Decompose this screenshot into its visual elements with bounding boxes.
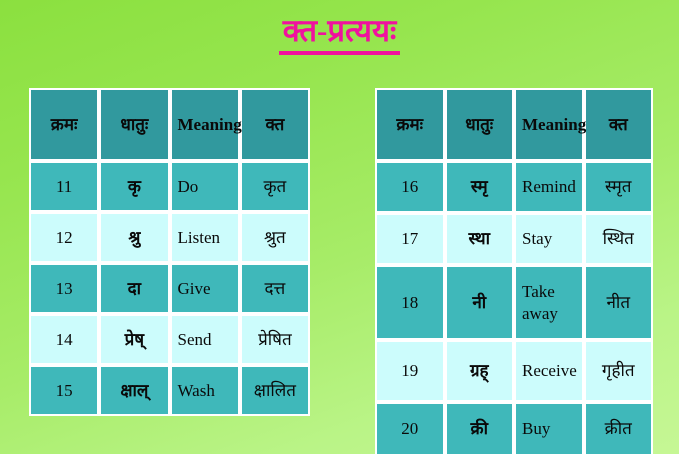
cell-meaning: Do [170, 161, 240, 212]
slide-canvas: क्त-प्रत्ययः क्रमः धातुः Meaning क्त 11 … [0, 0, 679, 454]
cell-kta: गृहीत [584, 340, 654, 402]
cell-kta: क्रीत [584, 402, 654, 456]
table-right-body: 16 स्मृ Remind स्मृत 17 स्था Stay स्थित … [375, 161, 653, 456]
table-row: 19 ग्रह् Receive गृहीत [375, 340, 653, 402]
table-right-header: क्रमः धातुः Meaning क्त [375, 88, 653, 161]
cell-dhatu: नी [445, 265, 515, 340]
kta-table-left: क्रमः धातुः Meaning क्त 11 कृ Do कृत 12 … [29, 88, 310, 416]
cell-krama: 15 [29, 365, 99, 416]
cell-kta: क्षालित [240, 365, 310, 416]
kta-table-right: क्रमः धातुः Meaning क्त 16 स्मृ Remind स… [375, 88, 653, 456]
cell-meaning: Give [170, 263, 240, 314]
cell-kta: कृत [240, 161, 310, 212]
header-dhatu: धातुः [99, 88, 169, 161]
cell-dhatu: क्षाल् [99, 365, 169, 416]
cell-krama: 14 [29, 314, 99, 365]
page-title: क्त-प्रत्ययः [0, 14, 679, 55]
table-row: 17 स्था Stay स्थित [375, 213, 653, 265]
header-krama: क्रमः [375, 88, 445, 161]
header-meaning: Meaning [170, 88, 240, 161]
cell-meaning: Take away [514, 265, 584, 340]
cell-dhatu: क्री [445, 402, 515, 456]
cell-meaning: Remind [514, 161, 584, 213]
header-meaning: Meaning [514, 88, 584, 161]
cell-kta: दत्त [240, 263, 310, 314]
cell-meaning: Send [170, 314, 240, 365]
table-left-body: 11 कृ Do कृत 12 श्रु Listen श्रुत 13 दा … [29, 161, 310, 416]
cell-dhatu: कृ [99, 161, 169, 212]
cell-dhatu: ग्रह् [445, 340, 515, 402]
cell-meaning: Wash [170, 365, 240, 416]
cell-meaning: Receive [514, 340, 584, 402]
cell-dhatu: स्मृ [445, 161, 515, 213]
cell-meaning: Buy [514, 402, 584, 456]
table-row: 13 दा Give दत्त [29, 263, 310, 314]
cell-kta: नीत [584, 265, 654, 340]
cell-kta: स्मृत [584, 161, 654, 213]
table-header-row: क्रमः धातुः Meaning क्त [29, 88, 310, 161]
cell-krama: 17 [375, 213, 445, 265]
header-krama: क्रमः [29, 88, 99, 161]
cell-krama: 13 [29, 263, 99, 314]
table-header-row: क्रमः धातुः Meaning क्त [375, 88, 653, 161]
cell-dhatu: दा [99, 263, 169, 314]
page-title-text: क्त-प्रत्ययः [279, 14, 400, 55]
cell-krama: 12 [29, 212, 99, 263]
header-kta: क्त [584, 88, 654, 161]
table-row: 16 स्मृ Remind स्मृत [375, 161, 653, 213]
cell-dhatu: स्था [445, 213, 515, 265]
table-row: 20 क्री Buy क्रीत [375, 402, 653, 456]
table-left-header: क्रमः धातुः Meaning क्त [29, 88, 310, 161]
header-dhatu: धातुः [445, 88, 515, 161]
table-row: 14 प्रेष् Send प्रेषित [29, 314, 310, 365]
cell-dhatu: श्रु [99, 212, 169, 263]
cell-krama: 11 [29, 161, 99, 212]
cell-krama: 16 [375, 161, 445, 213]
table-row: 15 क्षाल् Wash क्षालित [29, 365, 310, 416]
cell-krama: 18 [375, 265, 445, 340]
header-kta: क्त [240, 88, 310, 161]
table-row: 12 श्रु Listen श्रुत [29, 212, 310, 263]
cell-meaning: Listen [170, 212, 240, 263]
cell-kta: प्रेषित [240, 314, 310, 365]
cell-kta: श्रुत [240, 212, 310, 263]
cell-meaning: Stay [514, 213, 584, 265]
cell-krama: 20 [375, 402, 445, 456]
cell-dhatu: प्रेष् [99, 314, 169, 365]
cell-kta: स्थित [584, 213, 654, 265]
table-row: 11 कृ Do कृत [29, 161, 310, 212]
table-row: 18 नी Take away नीत [375, 265, 653, 340]
cell-krama: 19 [375, 340, 445, 402]
